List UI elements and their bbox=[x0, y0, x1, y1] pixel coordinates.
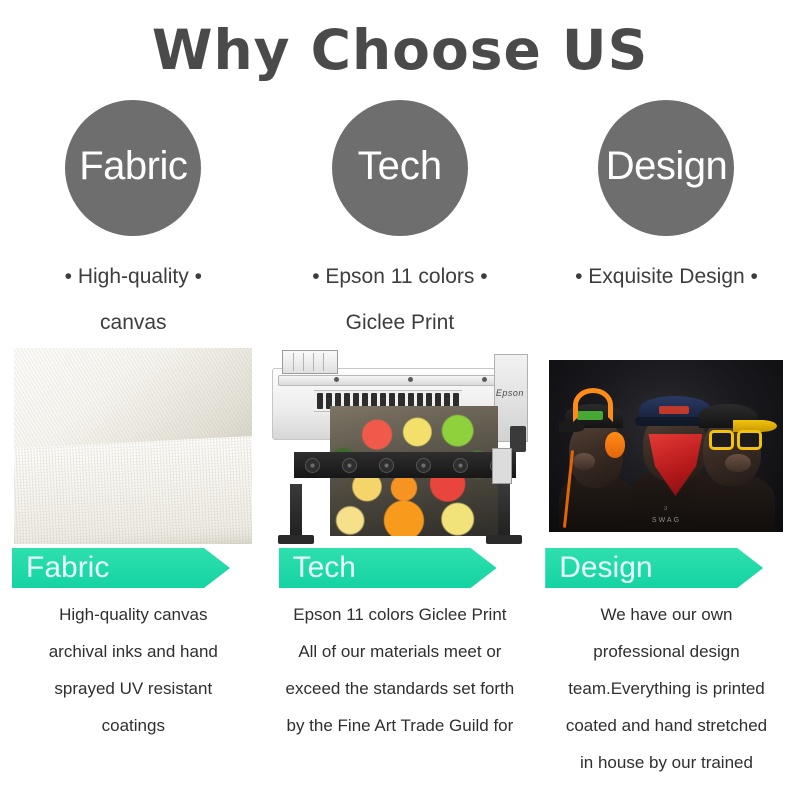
body-line: by the Fine Art Trade Guild for bbox=[273, 707, 528, 744]
badge-label-tech: Tech bbox=[358, 146, 443, 186]
photo-col-tech: Epson bbox=[267, 348, 534, 544]
banner-col-fabric: Fabric bbox=[0, 544, 267, 596]
banner-row: Fabric Tech Design bbox=[0, 544, 800, 596]
banner-col-design: Design bbox=[533, 544, 800, 596]
body-line: Epson 11 colors Giclee Print bbox=[273, 596, 528, 633]
body-copy-fabric: High-quality canvas archival inks and ha… bbox=[0, 596, 267, 744]
badge-wrap-tech: Tech bbox=[267, 94, 534, 254]
badge-circle-tech: Tech bbox=[332, 100, 468, 236]
body-line: coatings bbox=[6, 707, 261, 744]
cap-logo bbox=[659, 406, 689, 414]
page-title: Why Choose US bbox=[0, 0, 800, 94]
banner-fabric: Fabric bbox=[12, 548, 230, 588]
headline-line: • Epson 11 colors • bbox=[271, 254, 530, 300]
body-line: We have our own bbox=[539, 596, 794, 633]
headphone-band bbox=[573, 388, 613, 422]
body-line: exceed the standards set forth bbox=[273, 670, 528, 707]
banner-label-tech: Tech bbox=[279, 553, 356, 583]
banner-col-tech: Tech bbox=[267, 544, 534, 596]
body-line: coated and hand stretched bbox=[539, 707, 794, 744]
badge-circle-fabric: Fabric bbox=[65, 100, 201, 236]
photo-col-design: 3 SWAG bbox=[533, 348, 800, 544]
printer-rail-dot bbox=[334, 377, 339, 382]
headline-line: canvas bbox=[4, 300, 263, 346]
banner-label-fabric: Fabric bbox=[12, 553, 109, 583]
body-col-tech: Epson 11 colors Giclee Print All of our … bbox=[267, 596, 534, 781]
body-line: High-quality canvas bbox=[6, 596, 261, 633]
photo-col-fabric bbox=[0, 348, 267, 544]
banner-design: Design bbox=[545, 548, 763, 588]
body-line: archival inks and hand bbox=[6, 633, 261, 670]
headline-line: • High-quality • bbox=[4, 254, 263, 300]
badge-circle-design: Design bbox=[598, 100, 734, 236]
body-line: sprayed UV resistant bbox=[6, 670, 261, 707]
artwork-caption-top: 3 bbox=[549, 506, 783, 512]
printer-rail-dot bbox=[482, 377, 487, 382]
headline-design: • Exquisite Design • bbox=[533, 254, 800, 348]
yellow-sunglasses bbox=[709, 430, 762, 450]
printer-fan-icon bbox=[453, 458, 468, 473]
body-copy-row: High-quality canvas archival inks and ha… bbox=[0, 596, 800, 781]
banner-tech: Tech bbox=[279, 548, 497, 588]
printer-fan-icon bbox=[379, 458, 394, 473]
body-line: All of our materials meet or bbox=[273, 633, 528, 670]
photo-row: Epson bbox=[0, 348, 800, 544]
artwork-caption: 3 SWAG bbox=[549, 506, 783, 524]
body-line: professional design bbox=[539, 633, 794, 670]
body-copy-design: We have our own professional design team… bbox=[533, 596, 800, 781]
body-line: in house by our trained bbox=[539, 744, 794, 781]
badge-wrap-fabric: Fabric bbox=[0, 94, 267, 254]
column-tech: Tech • Epson 11 colors • Giclee Print bbox=[267, 94, 534, 348]
badge-wrap-design: Design bbox=[533, 94, 800, 254]
printer-illustration: Epson bbox=[268, 348, 532, 544]
artwork-caption-text: SWAG bbox=[652, 517, 681, 524]
headline-line: Giclee Print bbox=[271, 300, 530, 346]
column-design: Design • Exquisite Design • bbox=[533, 94, 800, 348]
printer-fan-icon bbox=[305, 458, 320, 473]
canvas-flat-sheet bbox=[14, 435, 252, 544]
body-copy-tech: Epson 11 colors Giclee Print All of our … bbox=[267, 596, 534, 744]
body-col-design: We have our own professional design team… bbox=[533, 596, 800, 781]
printer-control-panel bbox=[510, 426, 526, 452]
monkey-cap-brim bbox=[559, 422, 585, 432]
headline-fabric: • High-quality • canvas bbox=[0, 254, 267, 348]
body-col-fabric: High-quality canvas archival inks and ha… bbox=[0, 596, 267, 781]
printer-dryer-beam bbox=[294, 452, 516, 478]
epson-printer-photo: Epson bbox=[268, 348, 532, 544]
badge-label-design: Design bbox=[606, 146, 728, 186]
headline-tech: • Epson 11 colors • Giclee Print bbox=[267, 254, 534, 348]
printer-fan-icon bbox=[342, 458, 357, 473]
badge-label-fabric: Fabric bbox=[79, 146, 187, 186]
banner-label-design: Design bbox=[545, 553, 652, 583]
column-fabric: Fabric • High-quality • canvas bbox=[0, 94, 267, 348]
three-monkeys-artwork-photo: 3 SWAG bbox=[549, 360, 783, 532]
canvas-roll-photo bbox=[14, 348, 252, 544]
printer-button-cluster bbox=[492, 448, 512, 484]
printer-fan-icon bbox=[416, 458, 431, 473]
printer-foot bbox=[278, 535, 314, 544]
printer-brand-label: Epson bbox=[496, 388, 524, 398]
printer-foot bbox=[486, 535, 522, 544]
printer-rail-dot bbox=[408, 377, 413, 382]
body-line: team.Everything is printed bbox=[539, 670, 794, 707]
printer-ink-cartridge-tray bbox=[282, 350, 338, 374]
badge-row: Fabric • High-quality • canvas Tech • Ep… bbox=[0, 94, 800, 348]
monkeys-scene: 3 SWAG bbox=[549, 360, 783, 532]
headline-line: • Exquisite Design • bbox=[537, 254, 796, 300]
